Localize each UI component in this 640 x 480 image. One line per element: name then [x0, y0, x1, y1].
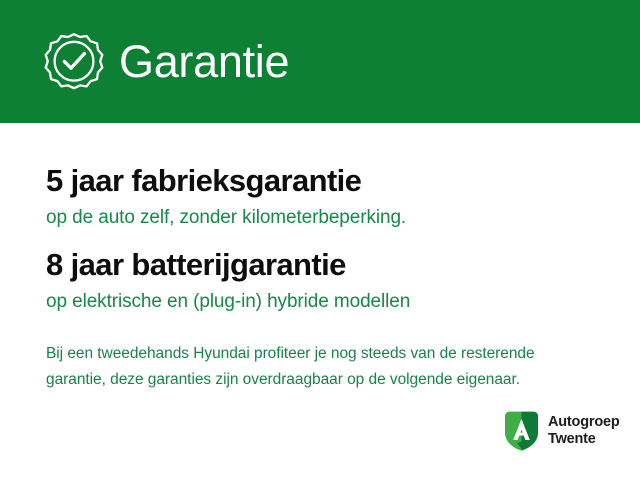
brand-wordmark: Autogroep Twente — [548, 414, 620, 448]
warranty-block-factory: 5 jaar fabrieksgarantie op de auto zelf,… — [46, 162, 406, 230]
header-banner: Garantie — [0, 0, 640, 123]
brand-name-line-1: Autogroep — [548, 414, 620, 431]
promo-card: Garantie 5 jaar fabrieksgarantie op de a… — [0, 0, 640, 480]
warranty-headline-battery: 8 jaar batterijgarantie — [46, 246, 410, 283]
footnote-text: Bij een tweedehands Hyundai profiteer je… — [46, 341, 606, 393]
warranty-block-battery: 8 jaar batterijgarantie op elektrische e… — [46, 246, 410, 314]
shield-a-logo-icon — [503, 410, 540, 452]
footnote-line-1: Bij een tweedehands Hyundai profiteer je… — [46, 341, 606, 367]
brand-name-line-2: Twente — [548, 431, 620, 448]
warranty-subline-battery: op elektrische en (plug-in) hybride mode… — [46, 289, 410, 314]
verified-badge-icon — [41, 31, 107, 97]
warranty-headline-factory: 5 jaar fabrieksgarantie — [46, 162, 406, 199]
page-title: Garantie — [119, 36, 289, 88]
brand-logo: Autogroep Twente — [503, 408, 623, 453]
footnote-line-2: garantie, deze garanties zijn overdraagb… — [46, 367, 606, 393]
warranty-subline-factory: op de auto zelf, zonder kilometerbeperki… — [46, 205, 406, 230]
